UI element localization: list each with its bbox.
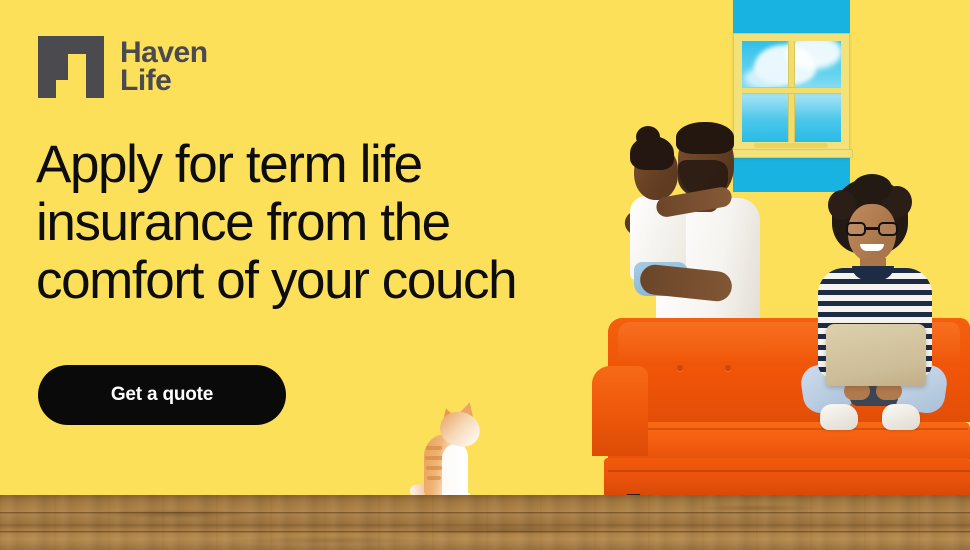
woman-sneaker-right	[882, 404, 920, 430]
woman-sneaker-left	[820, 404, 858, 430]
couch-tuft-button	[725, 365, 731, 371]
laptop-icon	[826, 324, 926, 386]
get-a-quote-button[interactable]: Get a quote	[38, 365, 286, 425]
window-mullion-horizontal	[742, 87, 841, 94]
woman-smile	[860, 244, 884, 251]
couch-armrest	[592, 366, 648, 456]
glasses-bridge	[866, 227, 878, 230]
woman-hair-top	[852, 174, 892, 202]
logo-line-life: Life	[120, 67, 208, 95]
logo-wordmark: Haven Life	[120, 39, 208, 94]
haven-life-logo[interactable]: Haven Life	[38, 36, 208, 98]
couch-base-seam	[608, 470, 970, 472]
logo-line-haven: Haven	[120, 39, 208, 67]
glasses-lens-left	[846, 222, 866, 236]
man-hair	[676, 122, 734, 154]
couch-base	[604, 458, 970, 500]
cloud-icon	[744, 67, 788, 89]
child-hair-bun	[636, 126, 660, 148]
haven-life-h-monogram-icon	[38, 36, 104, 98]
haven-life-ad-banner[interactable]: Haven Life Apply for term life insurance…	[0, 0, 970, 550]
ad-content: Haven Life Apply for term life insurance…	[0, 0, 600, 550]
glasses-lens-right	[878, 222, 898, 236]
headline: Apply for term life insurance from the c…	[36, 136, 576, 309]
woman-with-laptop-figure	[800, 176, 950, 448]
father-and-daughter-figure	[606, 112, 766, 330]
couch-tuft-button	[677, 365, 683, 371]
eyeglasses-icon	[846, 222, 898, 236]
